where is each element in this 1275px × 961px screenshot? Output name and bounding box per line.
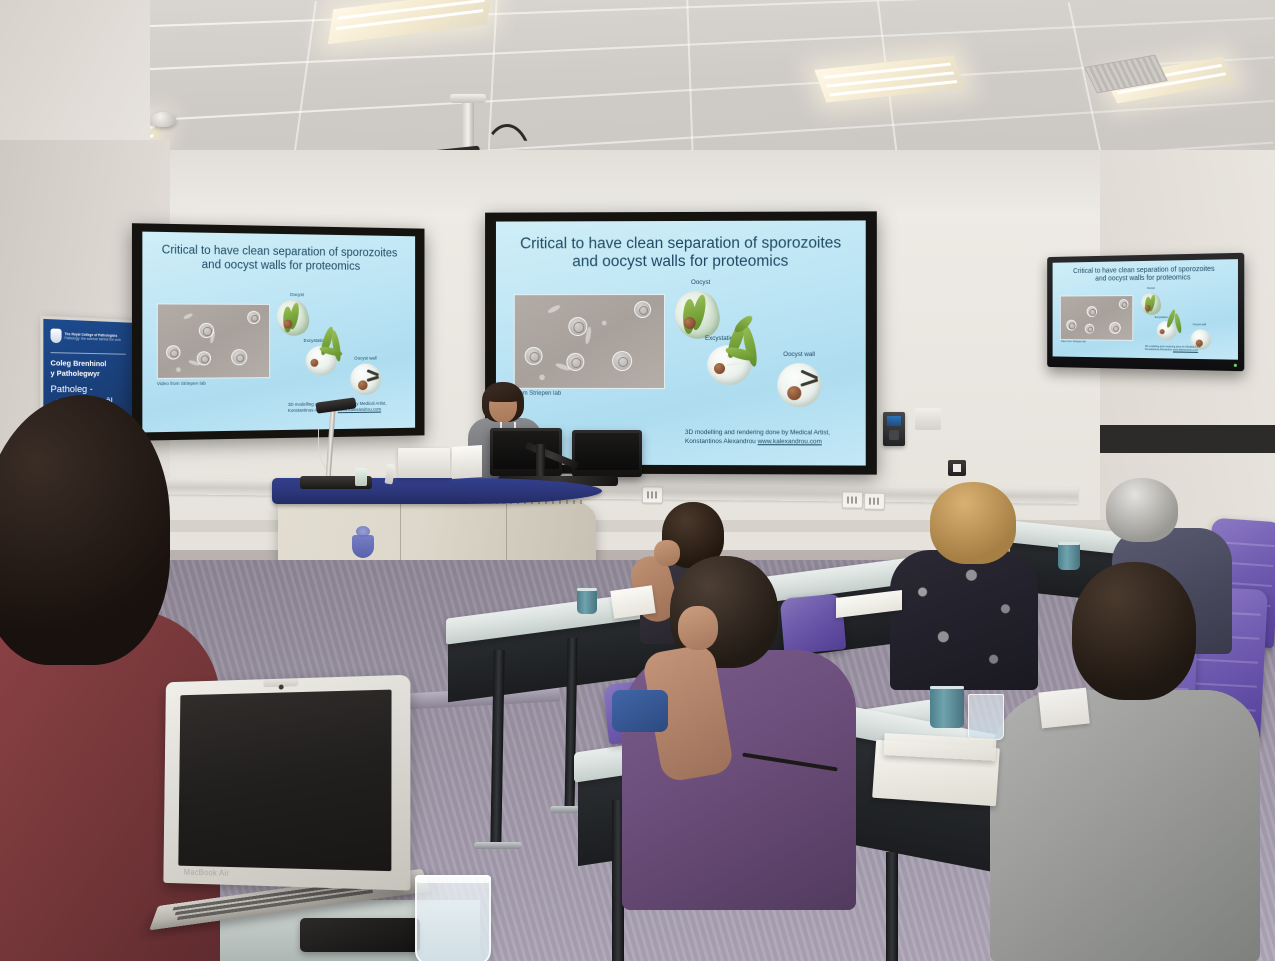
monitor-screen [575, 433, 639, 470]
slide-credit-link[interactable]: www.kalexandrou.com [1173, 349, 1198, 352]
presenter-monitor-right [572, 430, 642, 477]
av-equipment-box [398, 448, 450, 478]
slide-title-line1: Critical to have clean separation of spo… [511, 235, 851, 254]
attendee-purple-shirt-hand [678, 606, 718, 650]
slide-credit: 3D modelling and rendering done by Medic… [1145, 345, 1201, 353]
microscopy-caption: Video from Striepen lab [157, 381, 206, 387]
laptop-webcam [279, 685, 284, 690]
slide-credit: 3D modelling and rendering done by Medic… [685, 429, 830, 447]
ceiling-light [814, 55, 965, 103]
laptop-screen[interactable] [178, 690, 391, 872]
oocyst-wall-illustration [777, 363, 821, 407]
slide-credit-link[interactable]: www.kalexandrou.com [758, 438, 822, 445]
slide-title: Critical to have clean separation of spo… [511, 235, 851, 272]
foreground-attendee-hair [0, 395, 170, 665]
microscopy-caption: Video from Striepen lab [1061, 340, 1086, 343]
oocyst-illustration [1139, 291, 1163, 317]
power-socket [864, 493, 885, 510]
label-oocyst: Oocyst [691, 279, 710, 286]
rcpath-logo: The Royal College of Pathologists Pathol… [50, 328, 120, 344]
oocyst-wall-illustration [350, 363, 381, 395]
banner-subtitle-line1: Patholeg - [50, 383, 134, 396]
rcpath-crest-icon [50, 328, 61, 343]
smoke-detector [150, 112, 176, 127]
tv-slide: Critical to have clean separation of spo… [1053, 259, 1238, 360]
banner-title: Coleg Brenhinol y Patholegwyr [50, 358, 131, 379]
attendee-grey-hair-head [1106, 478, 1178, 542]
coffee-cup[interactable] [577, 588, 597, 614]
slide-credit-author: Konstantinos Alexandrou [685, 438, 756, 445]
power-socket [842, 491, 863, 508]
banner-title-line2: y Patholegwyr [50, 369, 131, 380]
oocyst-illustration [273, 296, 313, 339]
banner-divider [50, 352, 125, 355]
attendee-front-left-hand [654, 540, 680, 566]
slide-title: Critical to have clean separation of spo… [1060, 265, 1231, 284]
label-oocyst: Oocyst [1147, 287, 1155, 290]
lecture-theatre-photo: The Royal College of Pathologists Pathol… [0, 0, 1275, 961]
tv-power-led [1234, 364, 1237, 367]
attendee-floral-blouse-head [930, 482, 1016, 564]
coffee-cup[interactable] [1058, 542, 1080, 570]
laptop[interactable]: MacBook Air [150, 678, 412, 918]
microscopy-image [1060, 295, 1133, 341]
slide-title: Critical to have clean separation of spo… [154, 244, 405, 274]
label-oocyst-wall: Oocyst wall [1193, 323, 1207, 326]
desk-paper[interactable] [1038, 688, 1090, 729]
university-crest-icon [350, 526, 376, 558]
smartphone[interactable] [300, 918, 420, 952]
av-panel-screen [887, 416, 901, 426]
label-oocyst-wall: Oocyst wall [354, 356, 377, 361]
av-panel-plate [452, 445, 482, 479]
desk-leg-foot [474, 842, 522, 849]
wall-data-socket [948, 460, 966, 476]
laptop-model-label: MacBook Air [184, 868, 230, 878]
wall-socket-plate [915, 408, 941, 430]
label-oocyst: Oocyst [290, 292, 304, 297]
slide-credit-line1: 3D modelling and rendering done by Medic… [685, 429, 830, 438]
wall-soffit [120, 150, 1140, 212]
av-panel-button[interactable] [889, 430, 899, 440]
attendee-floral-blouse-body [890, 550, 1038, 690]
right-wall-dark-rail [1100, 425, 1275, 453]
power-socket [642, 486, 663, 503]
handout-paper[interactable] [610, 585, 655, 619]
glass-rim [415, 875, 491, 883]
slide-credit-author: Konstantinos Alexandrou [1145, 348, 1172, 351]
presenter-fringe [485, 386, 521, 402]
coffee-cup[interactable] [930, 686, 964, 728]
attendee-bag [612, 690, 668, 732]
desk-leg [886, 852, 898, 961]
label-excystation: Excystation [1155, 316, 1168, 319]
microscopy-image [514, 294, 665, 389]
microscopy-image [157, 303, 270, 379]
hand-sanitiser-bottle [355, 468, 367, 486]
label-oocyst-wall: Oocyst wall [783, 351, 815, 358]
slide-title-line2: and oocyst walls for proteomics [511, 253, 851, 272]
attendee-grey-tshirt-head [1072, 562, 1196, 700]
wall-av-control-panel[interactable] [883, 412, 905, 446]
ceiling-light [328, 0, 492, 44]
water-glass[interactable] [415, 875, 491, 961]
wall-mounted-tv: Critical to have clean separation of spo… [1047, 253, 1244, 371]
water-glass[interactable] [968, 694, 1004, 740]
laptop-lid: MacBook Air [163, 675, 410, 891]
attendee-grey-tshirt-body [990, 690, 1260, 961]
banner-logo-line2: Pathology: the science behind the cure [65, 336, 121, 342]
